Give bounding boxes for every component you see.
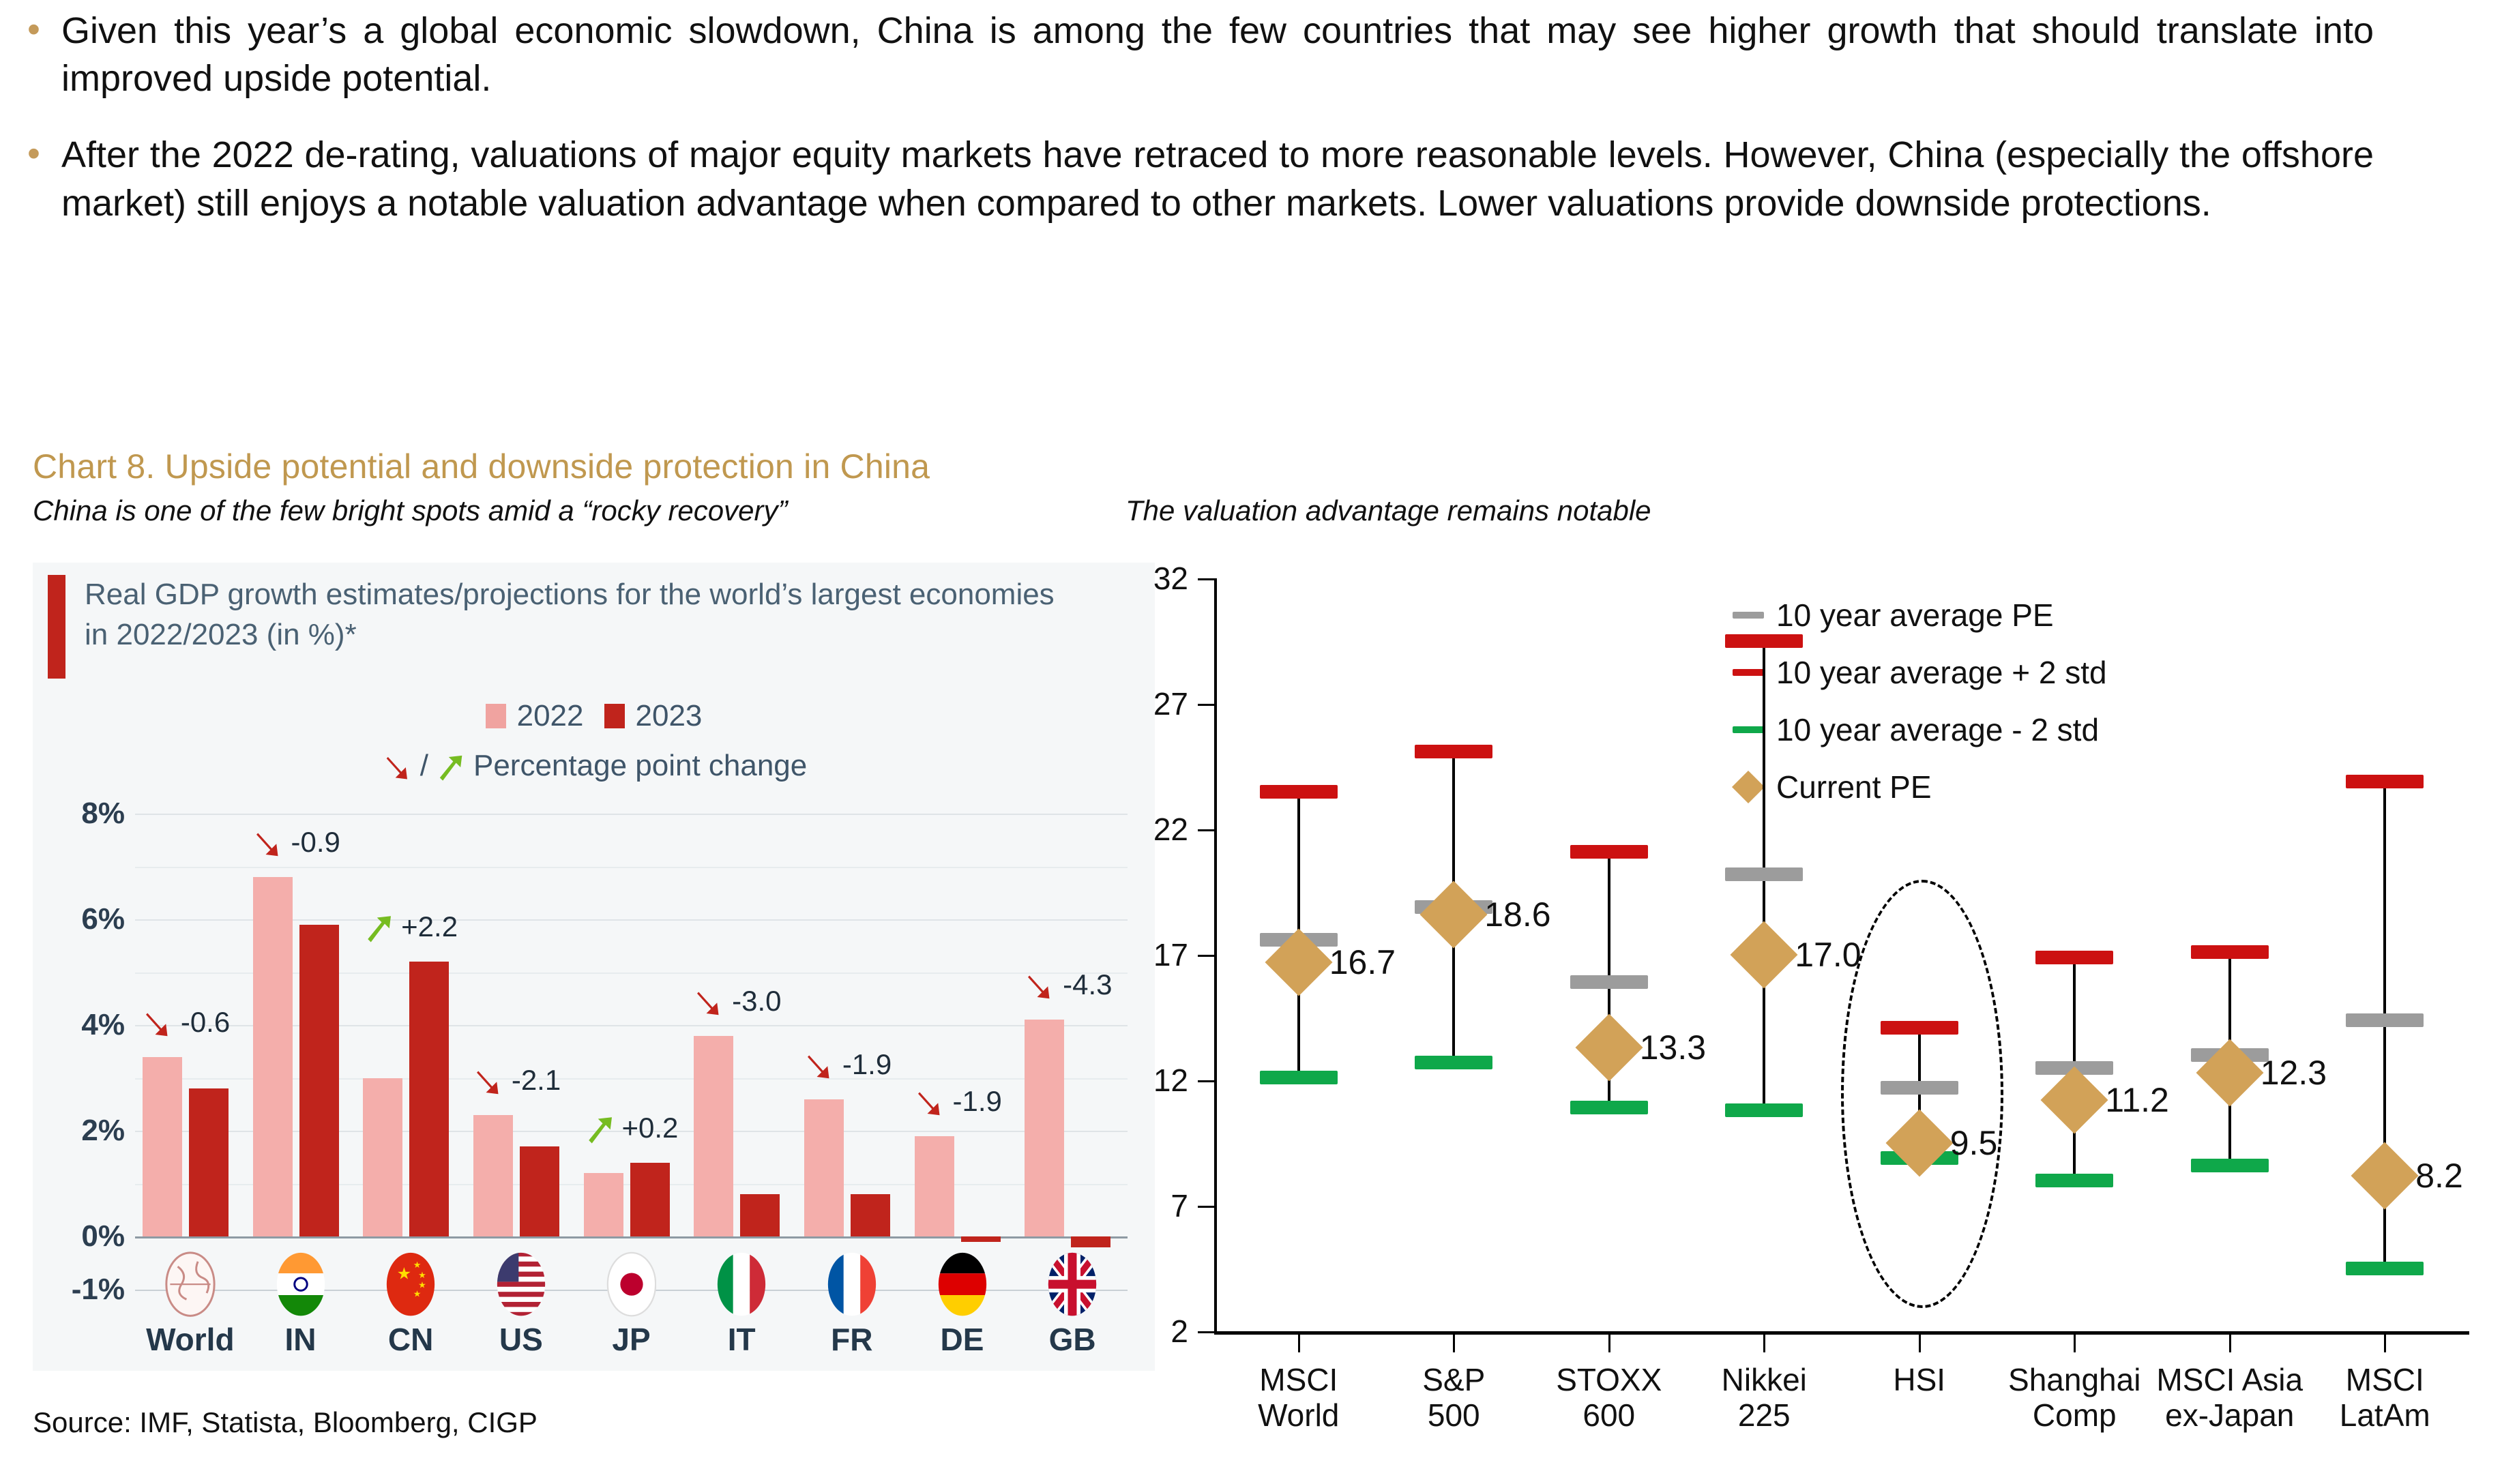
change-value: -0.6 (181, 1006, 230, 1039)
bar (473, 1115, 513, 1236)
arrow-down-icon (381, 748, 416, 784)
y-axis-tick-label: 12 (1113, 1062, 1188, 1099)
accent-bar-icon (48, 575, 65, 679)
current-pe-marker (2351, 1142, 2419, 1209)
bar (189, 1088, 229, 1236)
y-axis-tick (1198, 1080, 1216, 1082)
pe-range-column: 13.3 (1544, 559, 1674, 1331)
y-axis-tick-label: 2% (0, 1114, 125, 1148)
current-pe-value-label: 18.6 (1484, 895, 1550, 934)
bar (520, 1146, 559, 1236)
x-axis-tick (2074, 1335, 2076, 1352)
country-label: DE (908, 1321, 1017, 1358)
x-axis-label: MSCIWorld (1220, 1363, 1377, 1433)
pe-range-column: 11.2 (2010, 559, 2139, 1331)
low-marker (1570, 1101, 1648, 1114)
legend-label: 2022 (517, 699, 584, 733)
bar (851, 1194, 890, 1236)
y-axis-tick (1198, 955, 1216, 957)
y-axis-tick (1198, 704, 1216, 706)
usa-flag-icon (496, 1251, 546, 1317)
high-marker (1570, 845, 1648, 859)
change-annotation: -3.0 (691, 983, 781, 1020)
y-axis-tick-label: 32 (1113, 560, 1188, 597)
low-marker (2035, 1174, 2113, 1187)
arrow-up-icon (432, 748, 468, 784)
high-marker (1415, 745, 1492, 758)
country-axis-item: DE (908, 1251, 1017, 1358)
bar (363, 1078, 402, 1237)
bar (915, 1136, 954, 1236)
change-value: +0.2 (622, 1112, 679, 1144)
bar-group: -0.9 (246, 814, 355, 1236)
legend-swatch-icon (604, 704, 625, 728)
country-label: FR (797, 1321, 907, 1358)
country-label: CN (356, 1321, 465, 1358)
list-item: • After the 2022 de-rating, valuations o… (27, 131, 2456, 226)
france-flag-icon (827, 1251, 877, 1317)
country-axis-item: ★★★★★CN (356, 1251, 465, 1358)
bullet-dot-icon: • (27, 131, 61, 172)
bar-group: +2.2 (356, 814, 465, 1236)
gdp-legend-change: / Percentage point change (33, 748, 1155, 784)
average-marker (1570, 975, 1648, 989)
y-axis-tick-label: 8% (0, 797, 125, 831)
change-value: -1.9 (953, 1085, 1002, 1118)
arrow-down-icon (471, 1062, 507, 1099)
bullet-text: Given this year’s a global economic slow… (61, 7, 2374, 102)
svg-text:★: ★ (418, 1270, 426, 1280)
x-axis-label: STOXX600 (1531, 1363, 1688, 1433)
bar-group: -1.9 (797, 814, 907, 1236)
country-axis-item: GB (1018, 1251, 1127, 1358)
arrow-down-icon (912, 1083, 949, 1120)
current-pe-marker (1731, 921, 1798, 989)
current-pe-value-label: 13.3 (1640, 1028, 1706, 1067)
legend-swatch-icon (486, 704, 506, 728)
arrow-down-icon (140, 1004, 177, 1041)
x-axis-label: MSCILatAm (2306, 1363, 2463, 1433)
x-axis-line (1214, 1331, 2469, 1335)
change-annotation: -4.3 (1022, 966, 1112, 1003)
country-axis-item: IN (246, 1251, 355, 1358)
change-annotation: -1.9 (801, 1046, 892, 1083)
current-pe-value-label: 17.0 (1795, 935, 1861, 975)
change-annotation: -0.6 (140, 1004, 230, 1041)
page-title: Chart 8. Upside potential and downside p… (33, 447, 930, 486)
y-axis-tick-label: 22 (1113, 811, 1188, 848)
high-marker (2346, 775, 2424, 788)
uk-flag-icon (1047, 1251, 1098, 1317)
current-pe-marker (2041, 1067, 2108, 1134)
average-marker (2346, 1013, 2424, 1027)
x-axis-tick (1919, 1335, 1921, 1352)
change-annotation: +0.2 (581, 1110, 679, 1146)
average-marker (1725, 867, 1803, 881)
country-label: GB (1018, 1321, 1127, 1358)
pe-range-column: 18.6 (1389, 559, 1518, 1331)
y-axis-tick-label: 27 (1113, 685, 1188, 722)
bar (804, 1099, 844, 1237)
pe-range-column: 8.2 (2320, 559, 2449, 1331)
country-axis-item: FR (797, 1251, 907, 1358)
current-pe-value-label: 12.3 (2261, 1053, 2327, 1093)
bar-group: -4.3 (1018, 814, 1127, 1236)
svg-text:★: ★ (413, 1260, 422, 1270)
bar-group: -2.1 (467, 814, 576, 1236)
bar (630, 1163, 670, 1237)
country-axis-item: JP (577, 1251, 686, 1358)
y-axis-tick-label: 0% (0, 1219, 125, 1253)
arrow-down-icon (250, 824, 287, 861)
high-marker (2035, 951, 2113, 964)
gdp-chart-title: Real GDP growth estimates/projections fo… (85, 575, 1080, 679)
pe-range-column: 17.0 (1699, 559, 1829, 1331)
bar (409, 962, 449, 1236)
arrow-up-icon (581, 1110, 618, 1146)
current-pe-value-label: 16.7 (1329, 943, 1396, 982)
pe-range-chart: 10 year average PE10 year average + 2 st… (1132, 559, 2483, 1446)
x-axis-label: MSCI Asiaex-Japan (2151, 1363, 2308, 1433)
bar (1025, 1020, 1064, 1236)
bullet-text: After the 2022 de-rating, valuations of … (61, 131, 2374, 226)
x-axis-tick (1763, 1335, 1765, 1352)
world-flag-icon (165, 1251, 216, 1317)
arrow-down-icon (691, 983, 728, 1020)
bar (694, 1036, 733, 1237)
country-label: IT (687, 1321, 796, 1358)
change-value: +2.2 (401, 910, 458, 943)
japan-flag-icon (606, 1251, 657, 1317)
china-flag-icon: ★★★★★ (385, 1251, 436, 1317)
pe-range-column: 16.7 (1234, 559, 1364, 1331)
india-flag-icon (276, 1251, 326, 1317)
change-value: -4.3 (1063, 968, 1112, 1001)
gdp-category-axis: WorldIN★★★★★CNUSJPITFRDEGB (135, 1251, 1128, 1361)
bar (299, 925, 339, 1236)
y-axis-tick-label: 4% (0, 1008, 125, 1042)
change-value: -3.0 (732, 985, 781, 1018)
country-label: IN (246, 1321, 355, 1358)
arrow-down-icon (1022, 966, 1059, 1003)
low-marker (1260, 1071, 1338, 1084)
y-axis-tick (1198, 829, 1216, 831)
bar (961, 1236, 1001, 1242)
legend-change-label: Percentage point change (473, 749, 807, 783)
x-axis-tick (2384, 1335, 2386, 1352)
x-axis-label: ShanghaiComp (1996, 1363, 2153, 1433)
bar (1071, 1236, 1110, 1247)
change-annotation: -0.9 (250, 824, 340, 861)
italy-flag-icon (716, 1251, 767, 1317)
bullet-list: • Given this year’s a global economic sl… (27, 7, 2456, 256)
country-axis-item: US (467, 1251, 576, 1358)
country-label: JP (577, 1321, 686, 1358)
bar (584, 1173, 623, 1236)
bar (143, 1057, 182, 1237)
svg-text:★: ★ (397, 1265, 412, 1283)
current-pe-marker (1420, 881, 1488, 949)
x-axis-tick (1298, 1335, 1300, 1352)
change-value: -1.9 (842, 1048, 892, 1081)
change-annotation: +2.2 (360, 908, 458, 945)
low-marker (2191, 1159, 2269, 1172)
current-pe-value-label: 11.2 (2105, 1080, 2169, 1120)
arrow-up-icon (360, 908, 397, 945)
svg-text:★: ★ (413, 1289, 422, 1299)
gdp-chart-header: Real GDP growth estimates/projections fo… (48, 575, 1080, 679)
bar (740, 1194, 780, 1236)
gdp-legend: 2022 2023 (33, 699, 1155, 733)
low-marker (1725, 1103, 1803, 1117)
change-annotation: -2.1 (471, 1062, 561, 1099)
legend-item-2023: 2023 (604, 699, 703, 733)
separator-slash: / (420, 749, 428, 783)
y-axis-tick-label: 6% (0, 902, 125, 936)
bullet-dot-icon: • (27, 7, 61, 48)
country-axis-item: IT (687, 1251, 796, 1358)
legend-item-2022: 2022 (486, 699, 584, 733)
arrow-down-icon (801, 1046, 838, 1083)
high-marker (2191, 945, 2269, 959)
source-note: Source: IMF, Statista, Bloomberg, CIGP (33, 1406, 538, 1439)
low-marker (2346, 1262, 2424, 1275)
low-marker (1415, 1056, 1492, 1069)
x-axis-label: HSI (1841, 1363, 1998, 1398)
gdp-chart-panel: Real GDP growth estimates/projections fo… (33, 563, 1155, 1371)
change-value: -0.9 (291, 826, 340, 859)
bar-group: +0.2 (577, 814, 686, 1236)
bar-group: -1.9 (908, 814, 1017, 1236)
country-label: US (467, 1321, 576, 1358)
bar (253, 877, 293, 1236)
country-label: World (136, 1321, 245, 1358)
y-axis-tick-label: 2 (1113, 1313, 1188, 1350)
bar-group: -3.0 (687, 814, 796, 1236)
y-axis-tick-label: 7 (1113, 1187, 1188, 1224)
gdp-plot-area: 0%2%4%6%8%-1%-0.6-0.9+2.2-2.1+0.2-3.0-1.… (135, 814, 1128, 1236)
x-axis-tick (1453, 1335, 1455, 1352)
x-axis-tick (2229, 1335, 2231, 1352)
left-chart-subtitle: China is one of the few bright spots ami… (33, 494, 787, 527)
change-annotation: -1.9 (912, 1083, 1002, 1120)
change-value: -2.1 (512, 1064, 561, 1097)
y-axis-tick (1198, 1206, 1216, 1208)
germany-flag-icon (937, 1251, 988, 1317)
hsi-highlight-ellipse (1841, 880, 2003, 1308)
high-marker (1260, 785, 1338, 799)
x-axis-label: Nikkei225 (1686, 1363, 1842, 1433)
country-axis-item: World (136, 1251, 245, 1358)
y-axis-tick-label: 17 (1113, 936, 1188, 973)
bar-group: -0.6 (136, 814, 245, 1236)
list-item: • Given this year’s a global economic sl… (27, 7, 2456, 102)
high-marker (1725, 634, 1803, 648)
current-pe-value-label: 8.2 (2415, 1156, 2463, 1196)
current-pe-marker (1575, 1014, 1643, 1082)
y-axis-tick (1198, 578, 1216, 580)
y-axis-tick (1198, 1331, 1216, 1333)
x-axis-tick (1608, 1335, 1610, 1352)
pe-range-column: 12.3 (2165, 559, 2295, 1331)
right-chart-subtitle: The valuation advantage remains notable (1125, 494, 1651, 527)
legend-label: 2023 (636, 699, 703, 733)
y-axis-tick-label: -1% (0, 1273, 125, 1307)
x-axis-label: S&P500 (1375, 1363, 1532, 1433)
